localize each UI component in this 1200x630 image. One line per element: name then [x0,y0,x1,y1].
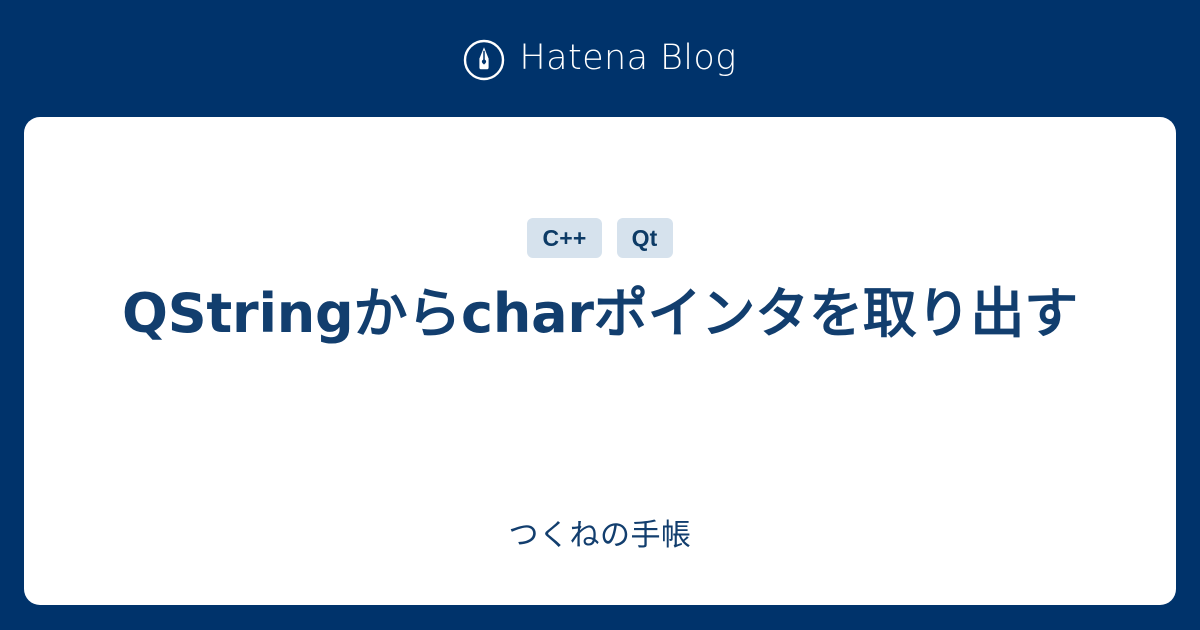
entry-card: C++ Qt QStringからcharポインタを取り出す つくねの手帳 [24,117,1176,605]
entry-title: QStringからcharポインタを取り出す [100,280,1100,348]
hatena-pen-nib-icon [463,39,505,81]
og-image-card: Hatena Blog C++ Qt QStringからcharポインタを取り出… [0,0,1200,630]
hatena-blog-brand-name: Hatena Blog [519,41,736,76]
blog-name: つくねの手帳 [509,521,692,551]
blog-name-container: つくねの手帳 [24,521,1176,551]
hatena-blog-header: Hatena Blog [0,0,1200,117]
entry-tag-qt[interactable]: Qt [617,218,673,258]
entry-tag-cpp[interactable]: C++ [527,218,601,258]
entry-tag-list: C++ Qt [527,218,672,258]
